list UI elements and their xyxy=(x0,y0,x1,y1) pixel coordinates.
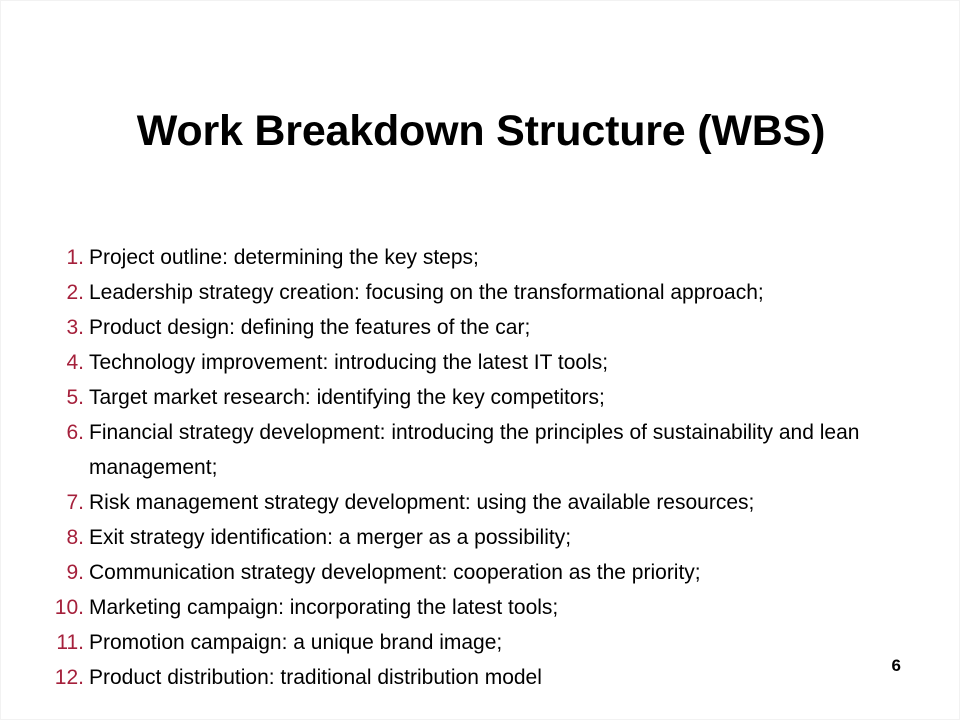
list-item: 4. Technology improvement: introducing t… xyxy=(47,345,927,380)
slide-page-number: 6 xyxy=(892,656,901,676)
list-item: 3. Product design: defining the features… xyxy=(47,310,927,345)
list-item-label: Risk management strategy development: us… xyxy=(89,485,927,520)
list-item: 11. Promotion campaign: a unique brand i… xyxy=(47,625,927,660)
list-item: 7. Risk management strategy development:… xyxy=(47,485,927,520)
presentation-slide: Work Breakdown Structure (WBS) 1. Projec… xyxy=(0,0,960,720)
wbs-ordered-list: 1. Project outline: determining the key … xyxy=(47,240,927,695)
list-item-number: 11. xyxy=(47,625,89,660)
list-item: 1. Project outline: determining the key … xyxy=(47,240,927,275)
list-item-label: Leadership strategy creation: focusing o… xyxy=(89,275,927,310)
list-item-label: Financial strategy development: introduc… xyxy=(89,415,927,485)
list-item-number: 10. xyxy=(47,590,89,625)
list-item-label: Product distribution: traditional distri… xyxy=(89,660,927,695)
list-item-number: 1. xyxy=(47,240,89,275)
list-item: 5. Target market research: identifying t… xyxy=(47,380,927,415)
list-item-number: 12. xyxy=(47,660,89,695)
list-item-number: 9. xyxy=(47,555,89,590)
list-item-label: Marketing campaign: incorporating the la… xyxy=(89,590,927,625)
list-item-label: Target market research: identifying the … xyxy=(89,380,927,415)
list-item-label: Project outline: determining the key ste… xyxy=(89,240,927,275)
list-item-label: Product design: defining the features of… xyxy=(89,310,927,345)
list-item-label: Exit strategy identification: a merger a… xyxy=(89,520,927,555)
list-item-number: 8. xyxy=(47,520,89,555)
list-item-number: 4. xyxy=(47,345,89,380)
list-item-label: Promotion campaign: a unique brand image… xyxy=(89,625,927,660)
list-item: 12. Product distribution: traditional di… xyxy=(47,660,927,695)
list-item-number: 5. xyxy=(47,380,89,415)
page-title: Work Breakdown Structure (WBS) xyxy=(61,105,901,157)
list-item-number: 3. xyxy=(47,310,89,345)
list-item-label: Communication strategy development: coop… xyxy=(89,555,927,590)
list-item: 8. Exit strategy identification: a merge… xyxy=(47,520,927,555)
list-item: 2. Leadership strategy creation: focusin… xyxy=(47,275,927,310)
list-item-number: 6. xyxy=(47,415,89,450)
list-item-number: 7. xyxy=(47,485,89,520)
list-item: 10. Marketing campaign: incorporating th… xyxy=(47,590,927,625)
list-item: 9. Communication strategy development: c… xyxy=(47,555,927,590)
list-item: 6. Financial strategy development: intro… xyxy=(47,415,927,485)
list-item-number: 2. xyxy=(47,275,89,310)
list-item-label: Technology improvement: introducing the … xyxy=(89,345,927,380)
